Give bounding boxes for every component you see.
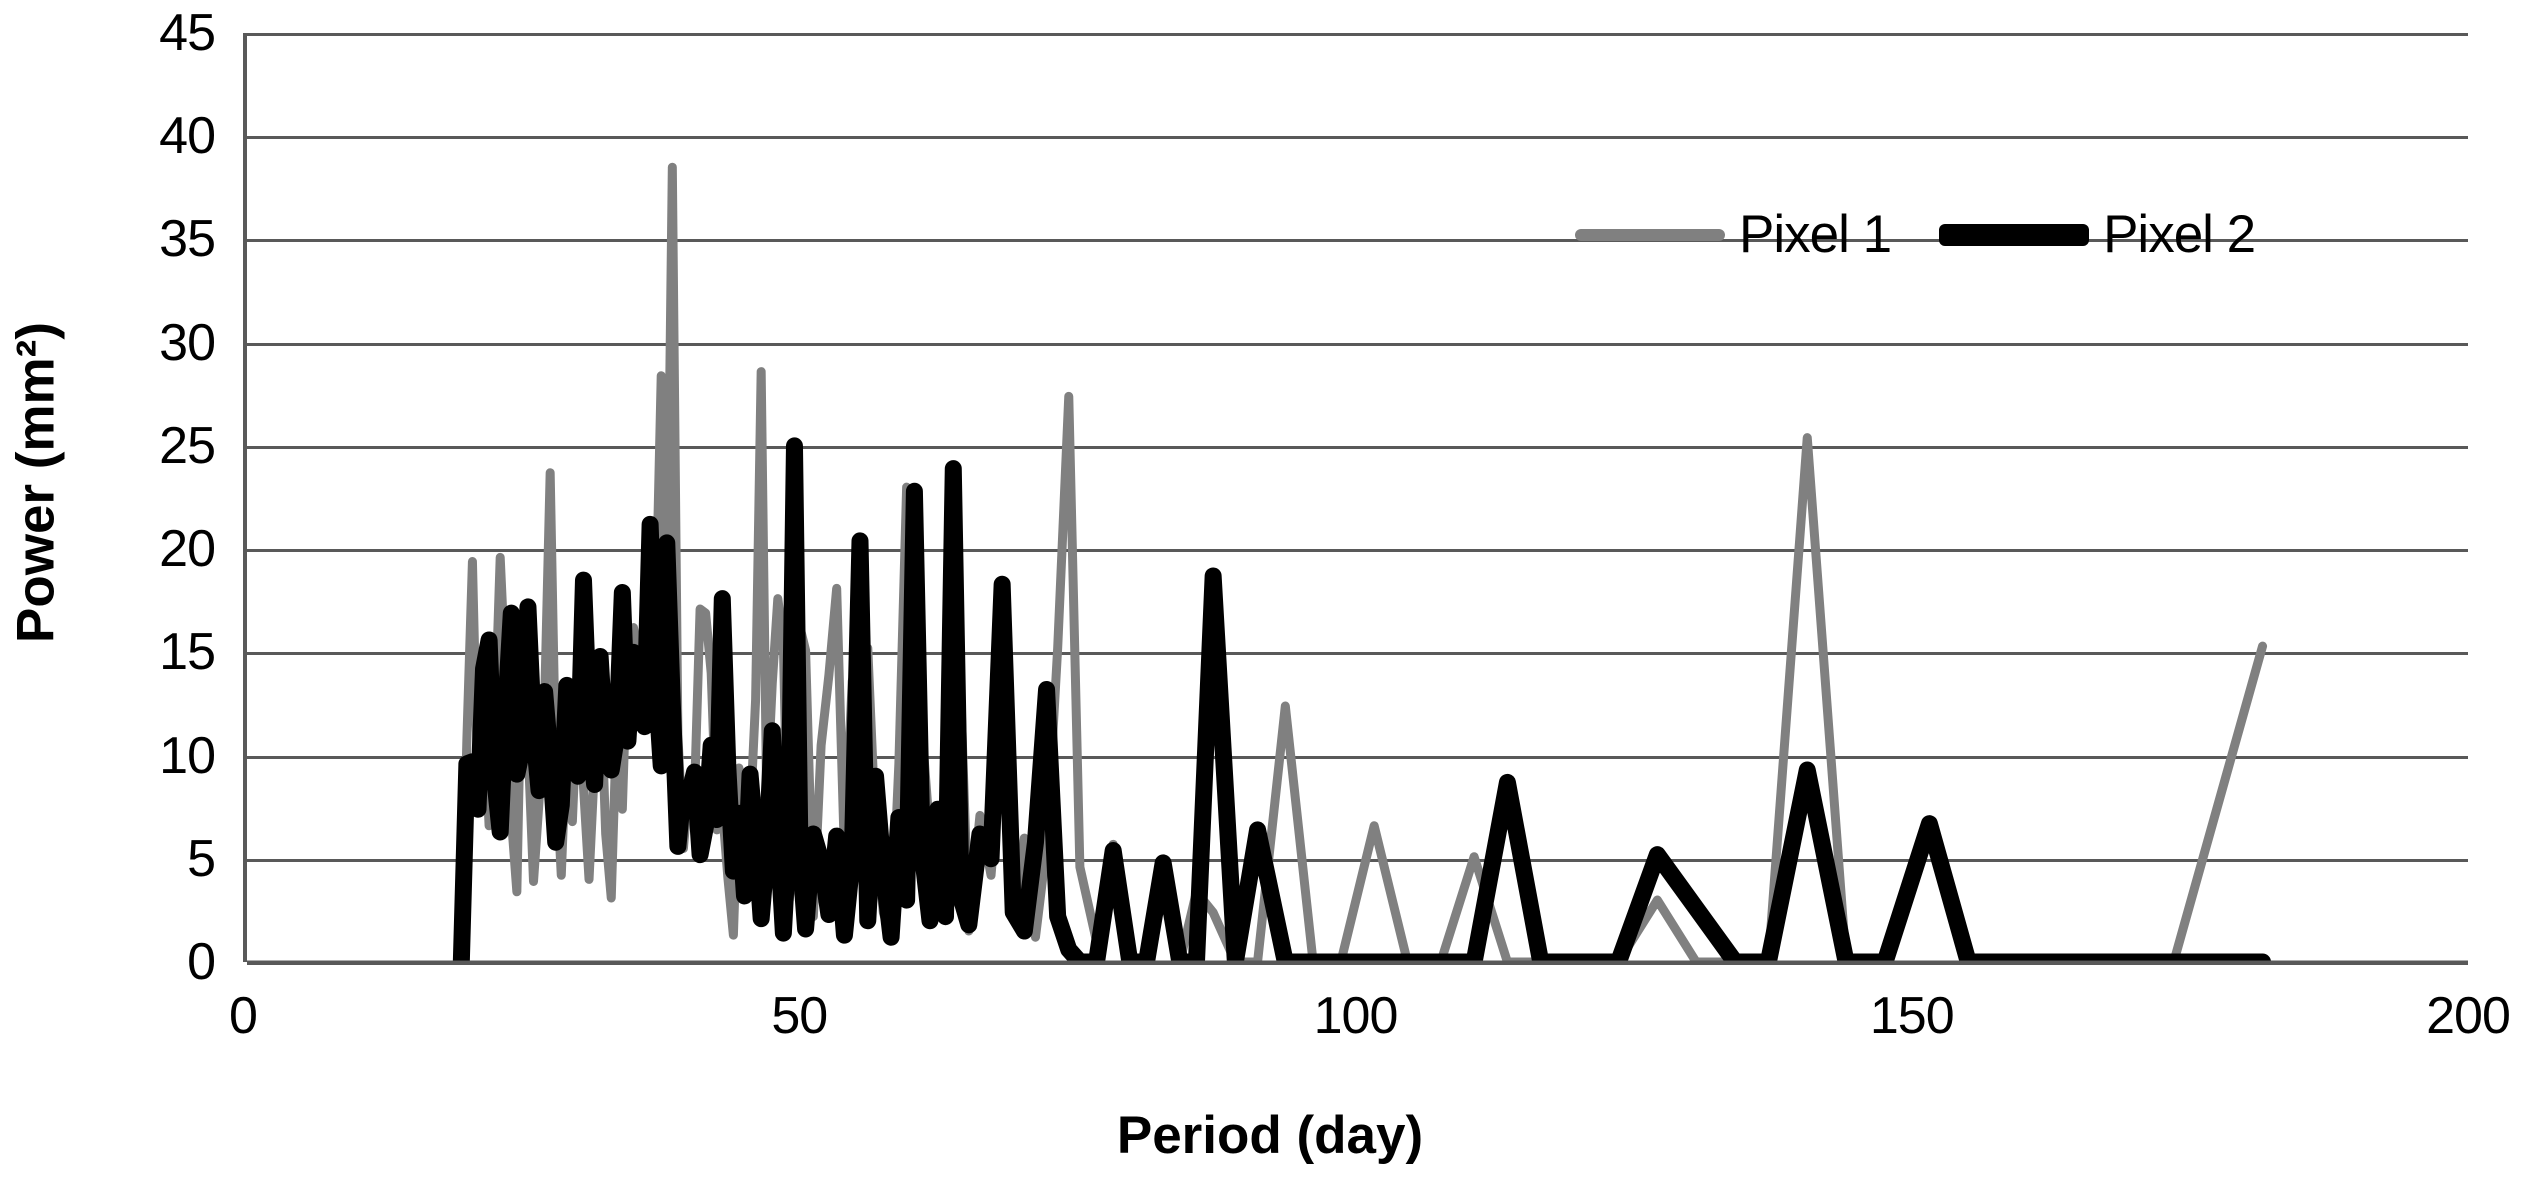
- y-tick-label-40: 40: [40, 110, 215, 162]
- plot-area: [243, 33, 2468, 962]
- x-tick-label-100: 100: [1314, 990, 1398, 1042]
- legend-swatch-icon-pixel-1: [1575, 229, 1725, 241]
- x-tick-label-150: 150: [1870, 990, 1954, 1042]
- legend-entry-pixel-1: Pixel 1: [1575, 208, 1891, 261]
- y-tick-label-25: 25: [40, 420, 215, 472]
- legend-entry-pixel-2: Pixel 2: [1891, 208, 2255, 261]
- x-axis-title: Period (day): [0, 1105, 2540, 1166]
- y-tick-label-10: 10: [40, 730, 215, 782]
- y-tick-label-0: 0: [40, 936, 215, 988]
- y-tick-label-15: 15: [40, 626, 215, 678]
- y-tick-label-35: 35: [40, 213, 215, 265]
- chart-legend: Pixel 1 Pixel 2: [1575, 208, 2255, 261]
- legend-label-pixel-1: Pixel 1: [1739, 208, 1891, 261]
- legend-label-pixel-2: Pixel 2: [2103, 208, 2255, 261]
- y-tick-label-5: 5: [40, 833, 215, 885]
- y-tick-label-20: 20: [40, 523, 215, 575]
- x-axis-title-label: Period (day): [1117, 1106, 1423, 1165]
- x-tick-label-50: 50: [771, 990, 827, 1042]
- plot-svg: [247, 33, 2468, 962]
- gridline-y-0: [247, 962, 2468, 965]
- legend-swatch-icon-pixel-2: [1939, 224, 2089, 246]
- y-tick-label-45: 45: [40, 7, 215, 59]
- y-tick-label-30: 30: [40, 317, 215, 369]
- x-tick-label-0: 0: [229, 990, 257, 1042]
- power-spectrum-chart: Power (mm²) 051015202530354045 050100150…: [0, 0, 2540, 1202]
- x-axis-tick-labels: 050100150200: [0, 990, 2540, 1070]
- x-tick-label-200: 200: [2426, 990, 2510, 1042]
